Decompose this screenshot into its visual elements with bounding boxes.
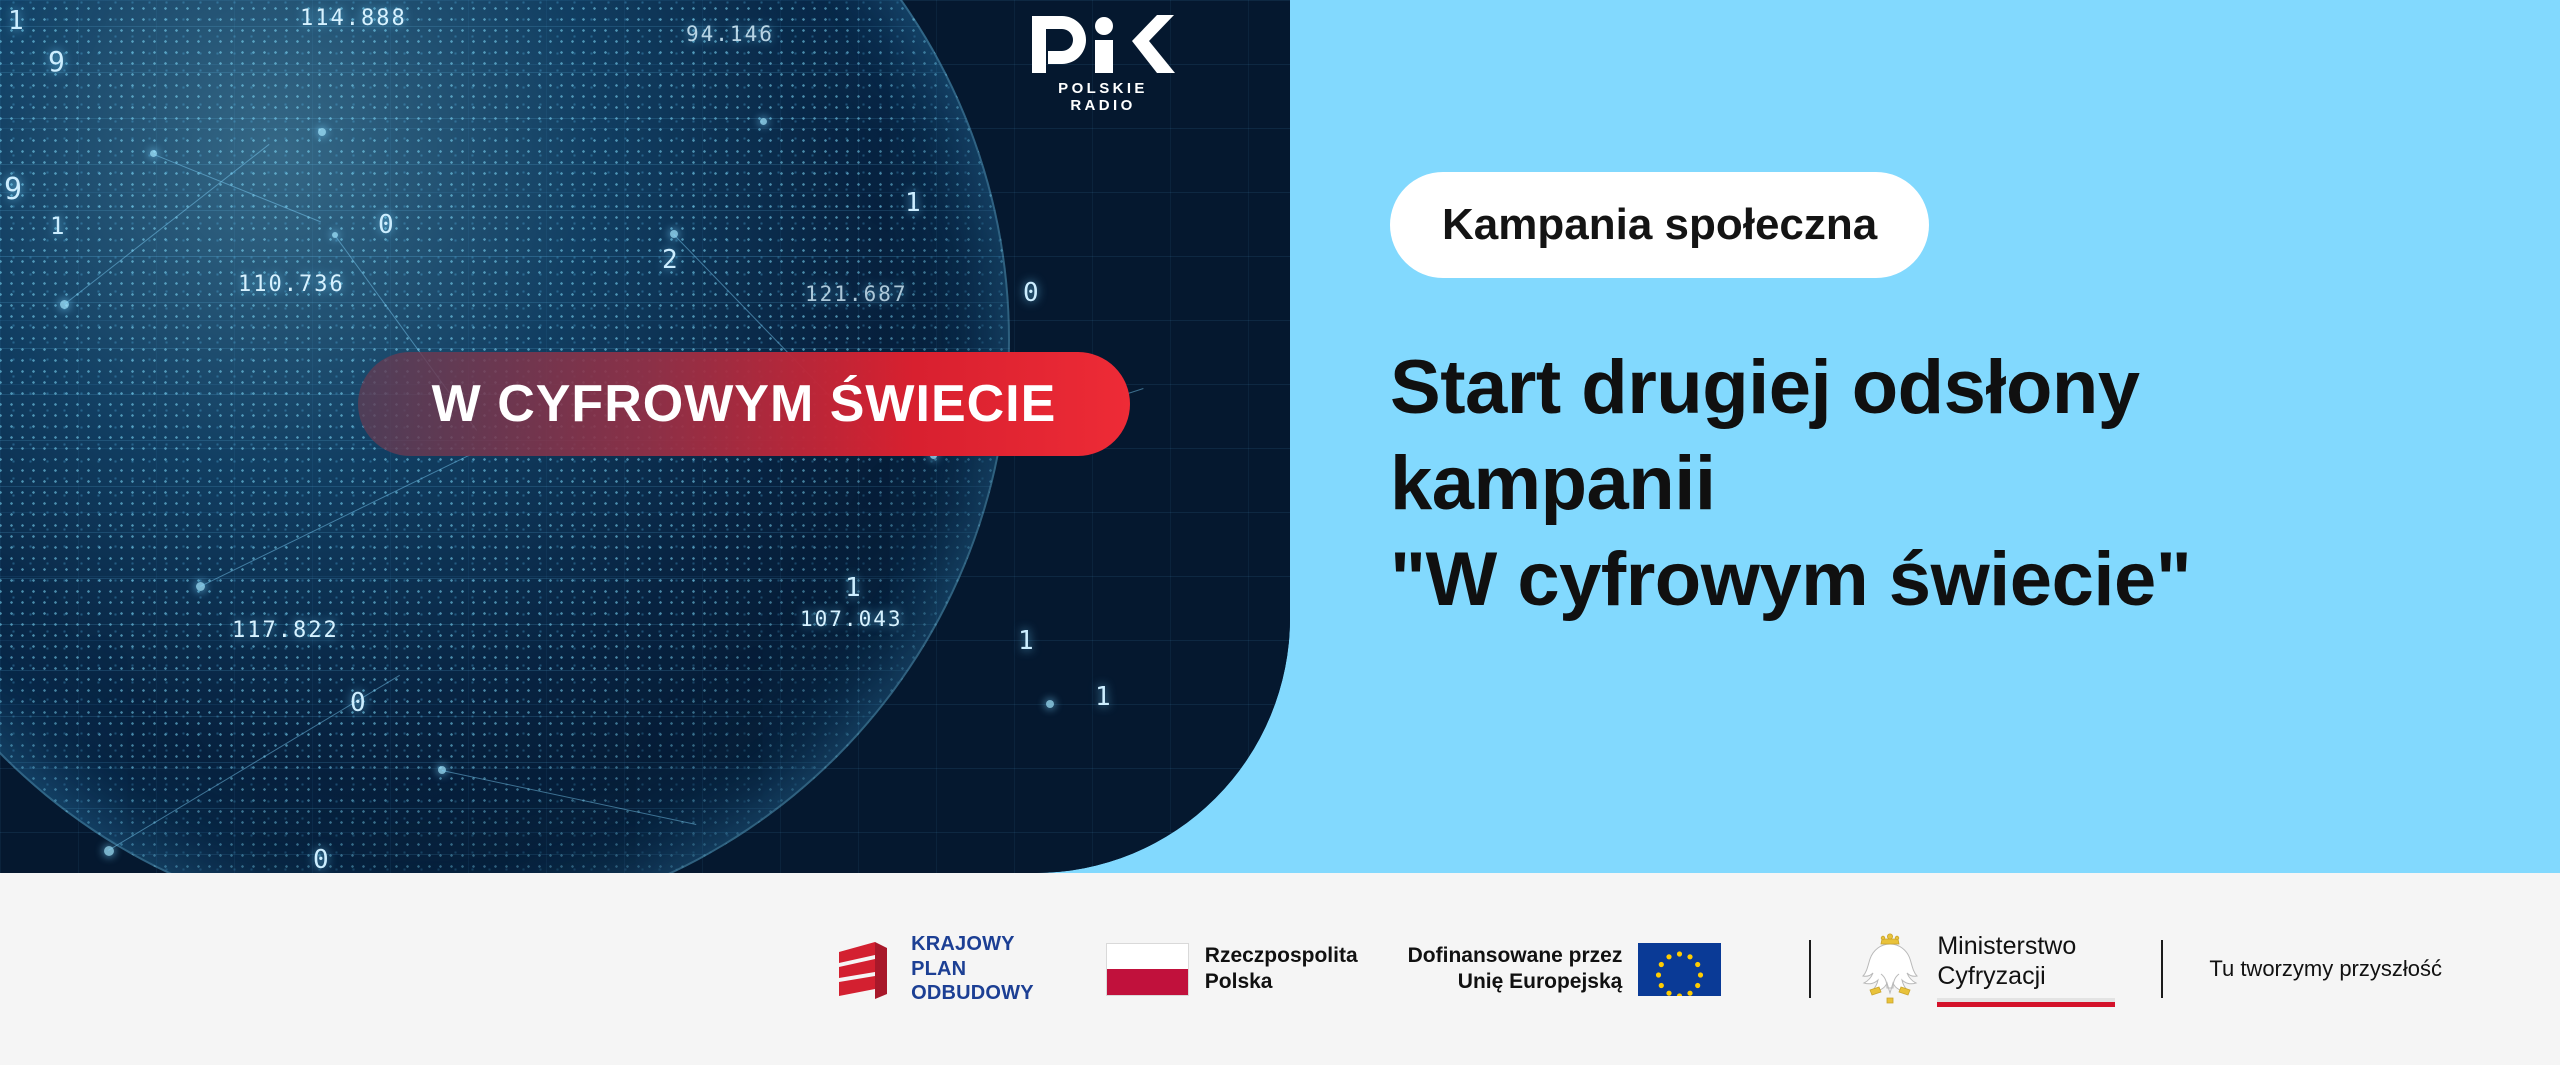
- rzeczpospolita-text: Rzeczpospolita Polska: [1205, 943, 1358, 996]
- network-node: [1046, 700, 1054, 708]
- binary-digit: 9: [48, 45, 65, 78]
- krajowy-plan-odbudowy-icon: [835, 938, 895, 1000]
- data-readout: 114.888: [300, 6, 407, 31]
- rp-line-2: Polska: [1205, 969, 1358, 995]
- eu-line-1: Dofinansowane przez: [1408, 943, 1623, 969]
- binary-digit: 1: [50, 212, 64, 240]
- data-readout: 94.146: [686, 22, 774, 46]
- pik-logo: POLSKIE RADIO: [1028, 12, 1178, 114]
- binary-digit: 1: [905, 188, 921, 218]
- footer-divider-2: [2161, 940, 2163, 998]
- kpo-logo-text: KRAJOWY PLAN ODBUDOWY: [911, 932, 1034, 1005]
- campaign-banner-page: 114.888 94.146 110.736 121.687 117.822 1…: [0, 0, 2560, 1065]
- headline-line-3: "W cyfrowym świecie": [1390, 532, 2500, 628]
- eu-flag-icon: [1638, 943, 1721, 996]
- eu-funding-logo: Dofinansowane przez Unię Europejską: [1408, 943, 1722, 996]
- ministry-logo: Ministerstwo Cyfryzacji: [1857, 931, 2115, 1007]
- data-readout: 121.687: [805, 282, 908, 306]
- ministry-line-1: Ministerstwo: [1937, 931, 2115, 961]
- kpo-line-1: KRAJOWY: [911, 932, 1034, 956]
- hero-image-panel: 114.888 94.146 110.736 121.687 117.822 1…: [0, 0, 1290, 873]
- kpo-line-3: ODBUDOWY: [911, 981, 1034, 1005]
- hero-section: 114.888 94.146 110.736 121.687 117.822 1…: [0, 0, 2560, 873]
- headline-line-2: kampanii: [1390, 436, 2500, 532]
- footer-slogan: Tu tworzymy przyszłość: [2209, 956, 2442, 982]
- binary-digit: 0: [350, 688, 366, 718]
- ministry-flag-bar: [1937, 998, 2115, 1007]
- binary-digit: 0: [313, 845, 329, 873]
- binary-digit: 9: [4, 172, 22, 207]
- ministry-bar-red: [1937, 1002, 2115, 1007]
- kpo-line-2: PLAN: [911, 957, 1034, 981]
- kpo-logo: KRAJOWY PLAN ODBUDOWY: [835, 932, 1034, 1005]
- data-readout: 107.043: [800, 607, 903, 631]
- eu-funding-text: Dofinansowane przez Unię Europejską: [1408, 943, 1623, 996]
- binary-digit: 1: [845, 573, 861, 603]
- eu-line-2: Unię Europejską: [1408, 969, 1623, 995]
- flag-white-band: [1107, 944, 1188, 970]
- data-readout: 117.822: [232, 618, 339, 643]
- pik-logo-mark: [1028, 12, 1178, 74]
- binary-digit: 2: [662, 245, 678, 275]
- rzeczpospolita-polska-logo: Rzeczpospolita Polska: [1106, 943, 1358, 996]
- ministry-line-2: Cyfryzacji: [1937, 961, 2115, 991]
- headline-line-1: Start drugiej odsłony: [1390, 340, 2500, 436]
- funding-footer: KRAJOWY PLAN ODBUDOWY Rzeczpospolita Pol…: [0, 873, 2560, 1065]
- campaign-ribbon-label: W CYFROWYM ŚWIECIE: [432, 374, 1057, 434]
- campaign-ribbon: W CYFROWYM ŚWIECIE: [358, 352, 1130, 456]
- rp-line-1: Rzeczpospolita: [1205, 943, 1358, 969]
- hero-content: Kampania społeczna Start drugiej odsłony…: [1390, 0, 2490, 873]
- campaign-badge-label: Kampania społeczna: [1442, 200, 1877, 250]
- campaign-badge: Kampania społeczna: [1390, 172, 1929, 278]
- binary-digit: 0: [1023, 278, 1039, 308]
- ministry-text: Ministerstwo Cyfryzacji: [1937, 931, 2115, 1007]
- binary-digit: 1: [1095, 682, 1111, 712]
- network-node: [318, 128, 326, 136]
- footer-divider: [1809, 940, 1811, 998]
- pik-logo-subtitle: POLSKIE RADIO: [1028, 80, 1178, 114]
- network-node: [760, 118, 767, 125]
- polish-flag-icon: [1106, 943, 1189, 996]
- data-readout: 110.736: [238, 272, 345, 297]
- eu-stars-circle: [1638, 943, 1721, 996]
- binary-digit: 1: [1018, 626, 1034, 656]
- polish-eagle-crest-icon: [1857, 932, 1923, 1006]
- binary-digit: 1: [8, 6, 24, 36]
- flag-red-band: [1107, 969, 1188, 995]
- page-title: Start drugiej odsłony kampanii "W cyfrow…: [1390, 340, 2500, 627]
